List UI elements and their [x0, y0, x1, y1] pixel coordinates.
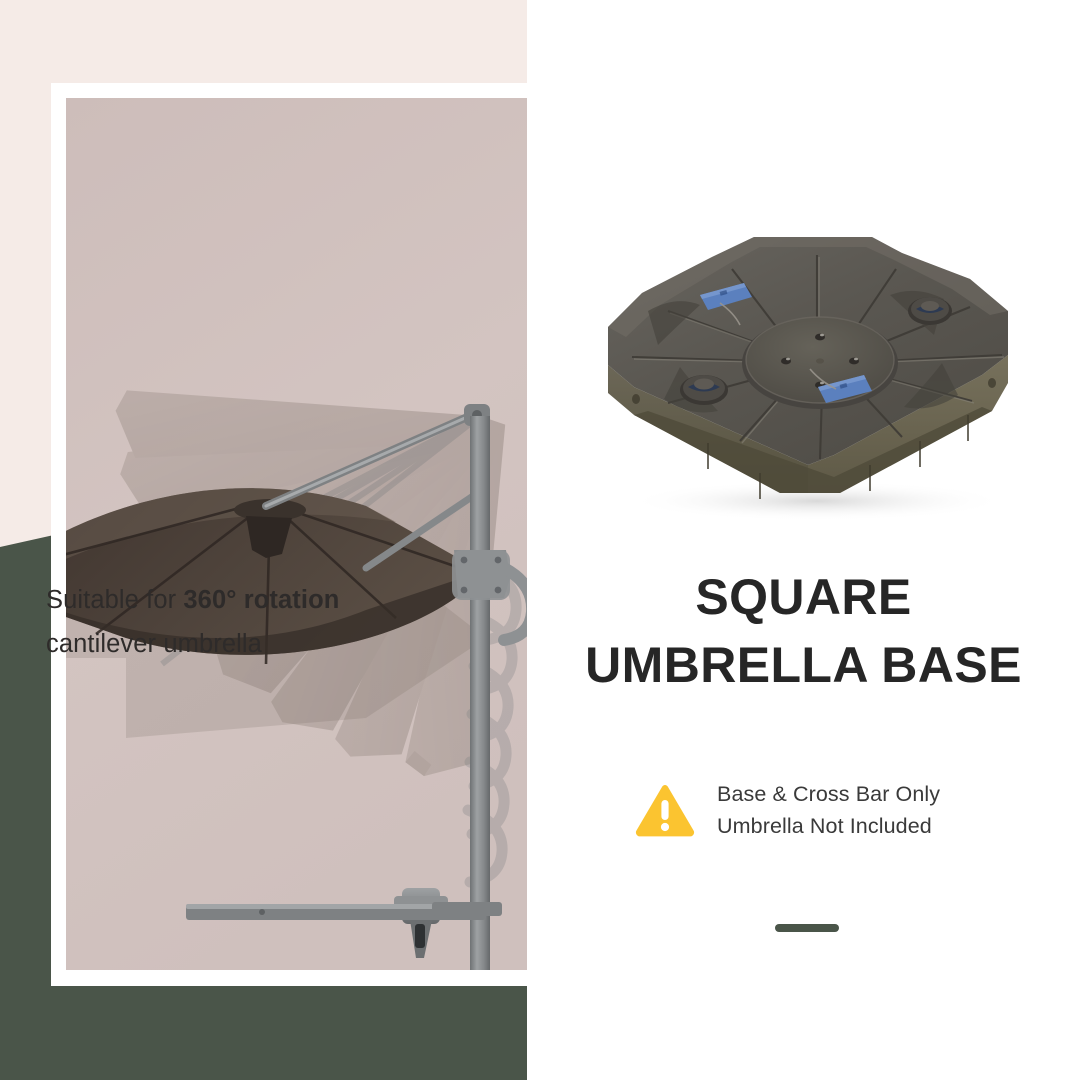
left-photo-section: Suitable for 360° rotation cantilever um… [0, 0, 527, 1080]
warning-triangle-icon [635, 783, 695, 838]
caption-line-1: Suitable for 360° rotation [46, 578, 446, 622]
notice-line-1: Base & Cross Bar Only [717, 778, 940, 810]
page-title: SQUARE UMBRELLA BASE [527, 563, 1080, 699]
center-mount-disc [742, 317, 898, 409]
inclusion-notice-text: Base & Cross Bar Only Umbrella Not Inclu… [717, 778, 940, 842]
umbrella-base-product-image [572, 215, 1042, 525]
dash-rule [775, 924, 839, 932]
inclusion-notice: Base & Cross Bar Only Umbrella Not Inclu… [635, 778, 995, 842]
caption-line-2: cantilever umbrella [46, 622, 446, 666]
umbrella-rotation-illustration [66, 98, 527, 970]
title-line-1: SQUARE [527, 563, 1080, 631]
product-feature-banner: Suitable for 360° rotation cantilever um… [0, 0, 1080, 1080]
right-content-section: SQUARE UMBRELLA BASE Base & Cross Bar On… [527, 0, 1080, 1080]
photo-white-frame [51, 83, 527, 986]
rotation-caption: Suitable for 360° rotation cantilever um… [46, 578, 446, 666]
caption-line1-bold: 360° rotation [183, 586, 339, 614]
title-line-2: UMBRELLA BASE [527, 631, 1080, 699]
umbrella-base-illustration [572, 215, 1042, 525]
umbrella-photo [66, 98, 527, 970]
fill-port-cap-rear [908, 297, 952, 325]
fill-port-cap-front [680, 375, 728, 405]
notice-line-2: Umbrella Not Included [717, 810, 940, 842]
caption-line1-prefix: Suitable for [46, 586, 183, 614]
